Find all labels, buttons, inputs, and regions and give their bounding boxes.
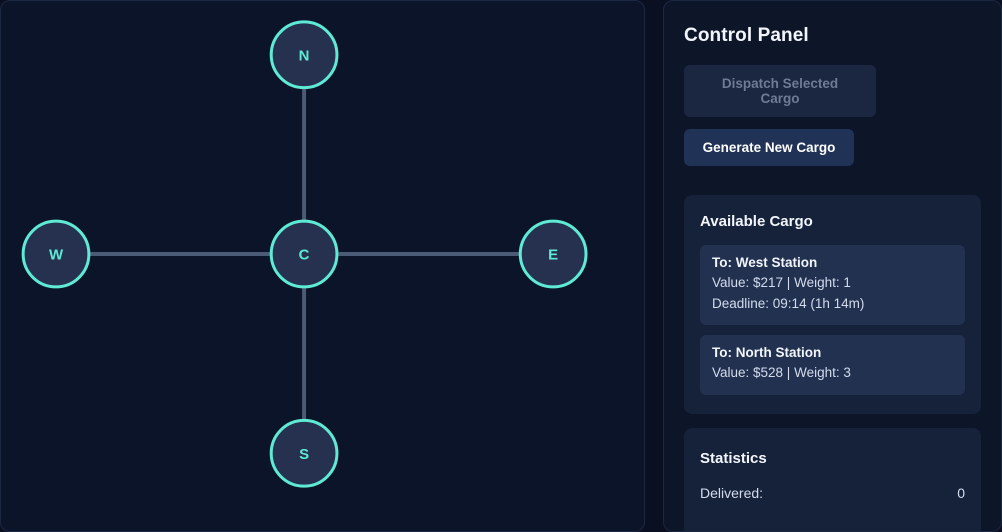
node-west-label: W <box>49 247 64 264</box>
node-east[interactable]: E <box>520 221 586 287</box>
available-cargo-title: Available Cargo <box>700 213 965 230</box>
node-east-label: E <box>548 247 558 264</box>
cargo-value-weight: Value: $217 | Weight: 1 <box>712 273 953 294</box>
page-title: Control Panel <box>684 25 981 47</box>
cargo-value-weight: Value: $528 | Weight: 3 <box>712 363 953 384</box>
node-center[interactable]: C <box>271 221 337 287</box>
statistics-card: Statistics Delivered: 0 <box>684 428 981 532</box>
stat-label-delivered: Delivered: <box>700 485 763 501</box>
node-south-label: S <box>299 446 309 463</box>
node-center-label: C <box>299 247 310 264</box>
stat-value-delivered: 0 <box>957 485 965 501</box>
network-canvas[interactable]: N W C E S <box>0 0 645 532</box>
available-cargo-card: Available Cargo To: West Station Value: … <box>684 195 981 414</box>
cargo-list-item[interactable]: To: North Station Value: $528 | Weight: … <box>700 335 965 395</box>
network-graph: N W C E S <box>1 1 644 531</box>
node-south[interactable]: S <box>271 420 337 486</box>
cargo-list-item[interactable]: To: West Station Value: $217 | Weight: 1… <box>700 245 965 325</box>
stat-row-delivered: Delivered: 0 <box>700 485 965 501</box>
generate-new-cargo-button[interactable]: Generate New Cargo <box>684 129 854 166</box>
node-west[interactable]: W <box>23 221 89 287</box>
statistics-title: Statistics <box>700 450 965 467</box>
dispatch-selected-cargo-button[interactable]: Dispatch Selected Cargo <box>684 65 876 117</box>
node-north-label: N <box>299 47 310 64</box>
cargo-deadline: Deadline: 09:14 (1h 14m) <box>712 294 953 315</box>
cargo-destination: To: West Station <box>712 255 953 270</box>
node-north[interactable]: N <box>271 22 337 88</box>
cargo-destination: To: North Station <box>712 345 953 360</box>
control-panel: Control Panel Dispatch Selected Cargo Ge… <box>663 0 1002 532</box>
